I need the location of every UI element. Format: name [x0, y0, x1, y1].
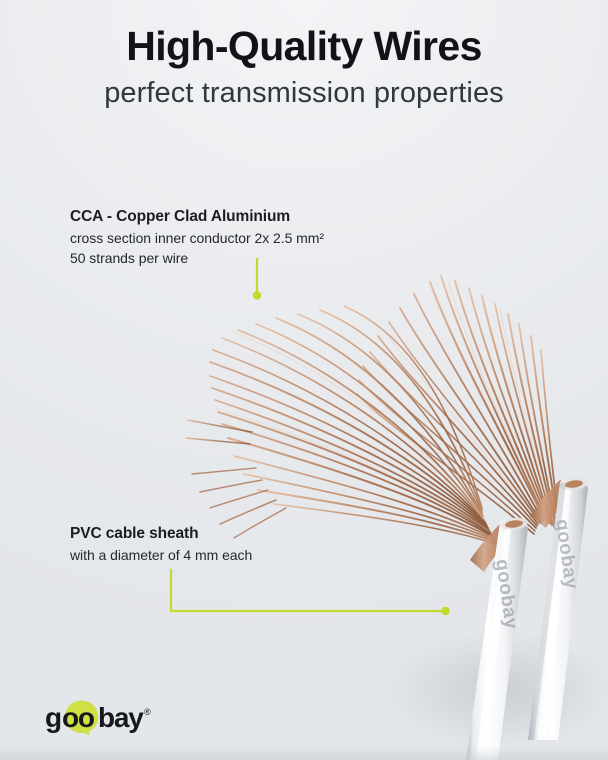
cable-print-front: goobay [491, 558, 522, 631]
page-subtitle: perfect transmission properties [0, 76, 608, 111]
infographic-canvas: goobay goobay High-Quality Wires perfect… [0, 0, 608, 760]
copper-strands-left [186, 306, 496, 544]
cable-sheath-front: goobay [466, 516, 529, 760]
copper-strands-right [357, 276, 560, 534]
logo-registered-mark: ® [144, 707, 151, 717]
annotation-pvc: PVC cable sheath with a diameter of 4 mm… [70, 524, 252, 566]
cable-print-back: goobay [551, 518, 582, 591]
leader-line-pvc [150, 560, 460, 630]
annotation-pvc-heading: PVC cable sheath [70, 524, 252, 543]
annotation-cca-line-1: cross section inner conductor 2x 2.5 mm² [70, 229, 324, 249]
logo-text-g: g [45, 702, 61, 733]
annotation-cca: CCA - Copper Clad Aluminium cross sectio… [70, 207, 324, 269]
annotation-cca-line-2: 50 strands per wire [70, 249, 324, 269]
cable-sheath-back: goobay [528, 476, 589, 740]
product-photo: goobay goobay [0, 0, 608, 760]
annotation-cca-heading: CCA - Copper Clad Aluminium [70, 207, 324, 226]
goobay-logo: g oo bay ® [45, 700, 155, 736]
page-title: High-Quality Wires [0, 24, 608, 70]
annotation-pvc-line-1: with a diameter of 4 mm each [70, 546, 252, 566]
logo-text-oo: oo [62, 702, 95, 733]
logo-text-bay: bay [98, 702, 144, 733]
